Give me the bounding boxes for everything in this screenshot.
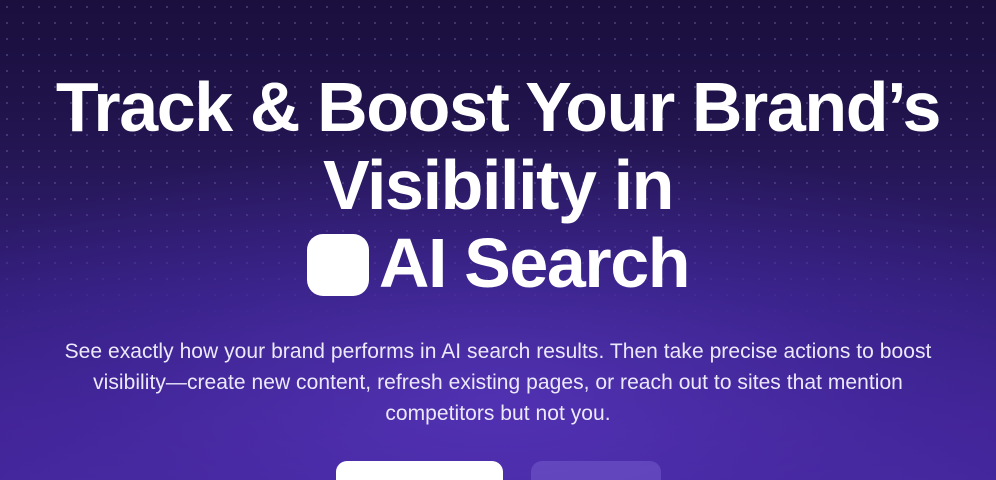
hero-section: Track & Boost Your Brand’s Visibility in…: [0, 0, 996, 480]
page-title: Track & Boost Your Brand’s Visibility in…: [48, 68, 948, 302]
cta-button-row: Get Started Learn More: [336, 461, 661, 480]
headline-line-2: Visibility in: [48, 146, 948, 224]
hero-content: Track & Boost Your Brand’s Visibility in…: [0, 0, 996, 480]
headline-line-3: AI Search: [48, 224, 948, 302]
hero-subtitle: See exactly how your brand performs in A…: [48, 336, 948, 429]
headline-line-3-label: AI Search: [379, 224, 689, 302]
get-started-button[interactable]: Get Started: [336, 461, 503, 480]
learn-more-button[interactable]: Learn More: [531, 461, 661, 480]
rounded-square-logo-icon: [307, 234, 369, 296]
headline-line-1: Track & Boost Your Brand’s: [48, 68, 948, 146]
